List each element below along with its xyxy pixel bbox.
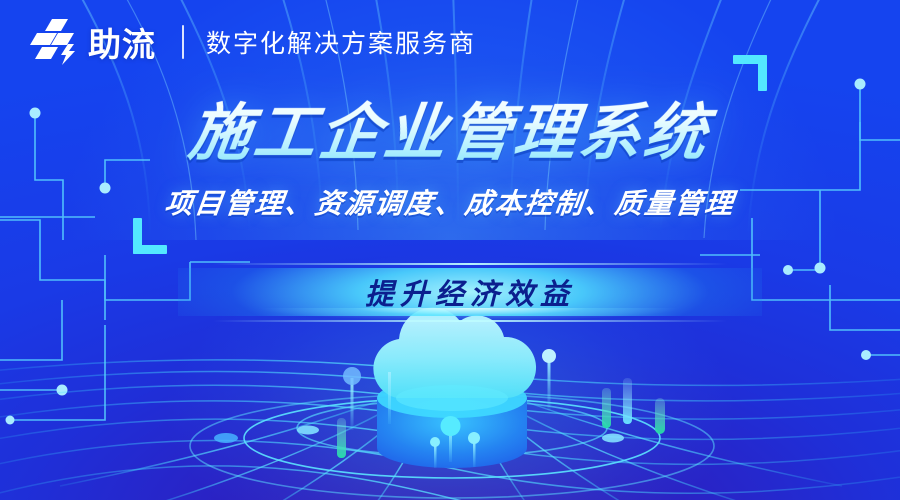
header-tagline: 数字化解决方案服务商 (206, 24, 476, 60)
header: 助流 数字化解决方案服务商 (28, 14, 476, 70)
page-title: 施工企业管理系统 (0, 82, 900, 172)
highlight-band-text: 提升经济效益 (178, 268, 762, 316)
bottom-glow (70, 200, 830, 500)
banner-root: 助流 数字化解决方案服务商 施工企业管理系统 项目管理、资源调度、成本控制、质量… (0, 0, 900, 500)
lightning-blocks-logo-icon[interactable] (28, 17, 82, 67)
page-subtitle: 项目管理、资源调度、成本控制、质量管理 (0, 182, 900, 222)
header-divider (182, 25, 184, 59)
corner-bracket-bottom-left (133, 218, 167, 254)
logo-text: 助流 (88, 18, 156, 66)
